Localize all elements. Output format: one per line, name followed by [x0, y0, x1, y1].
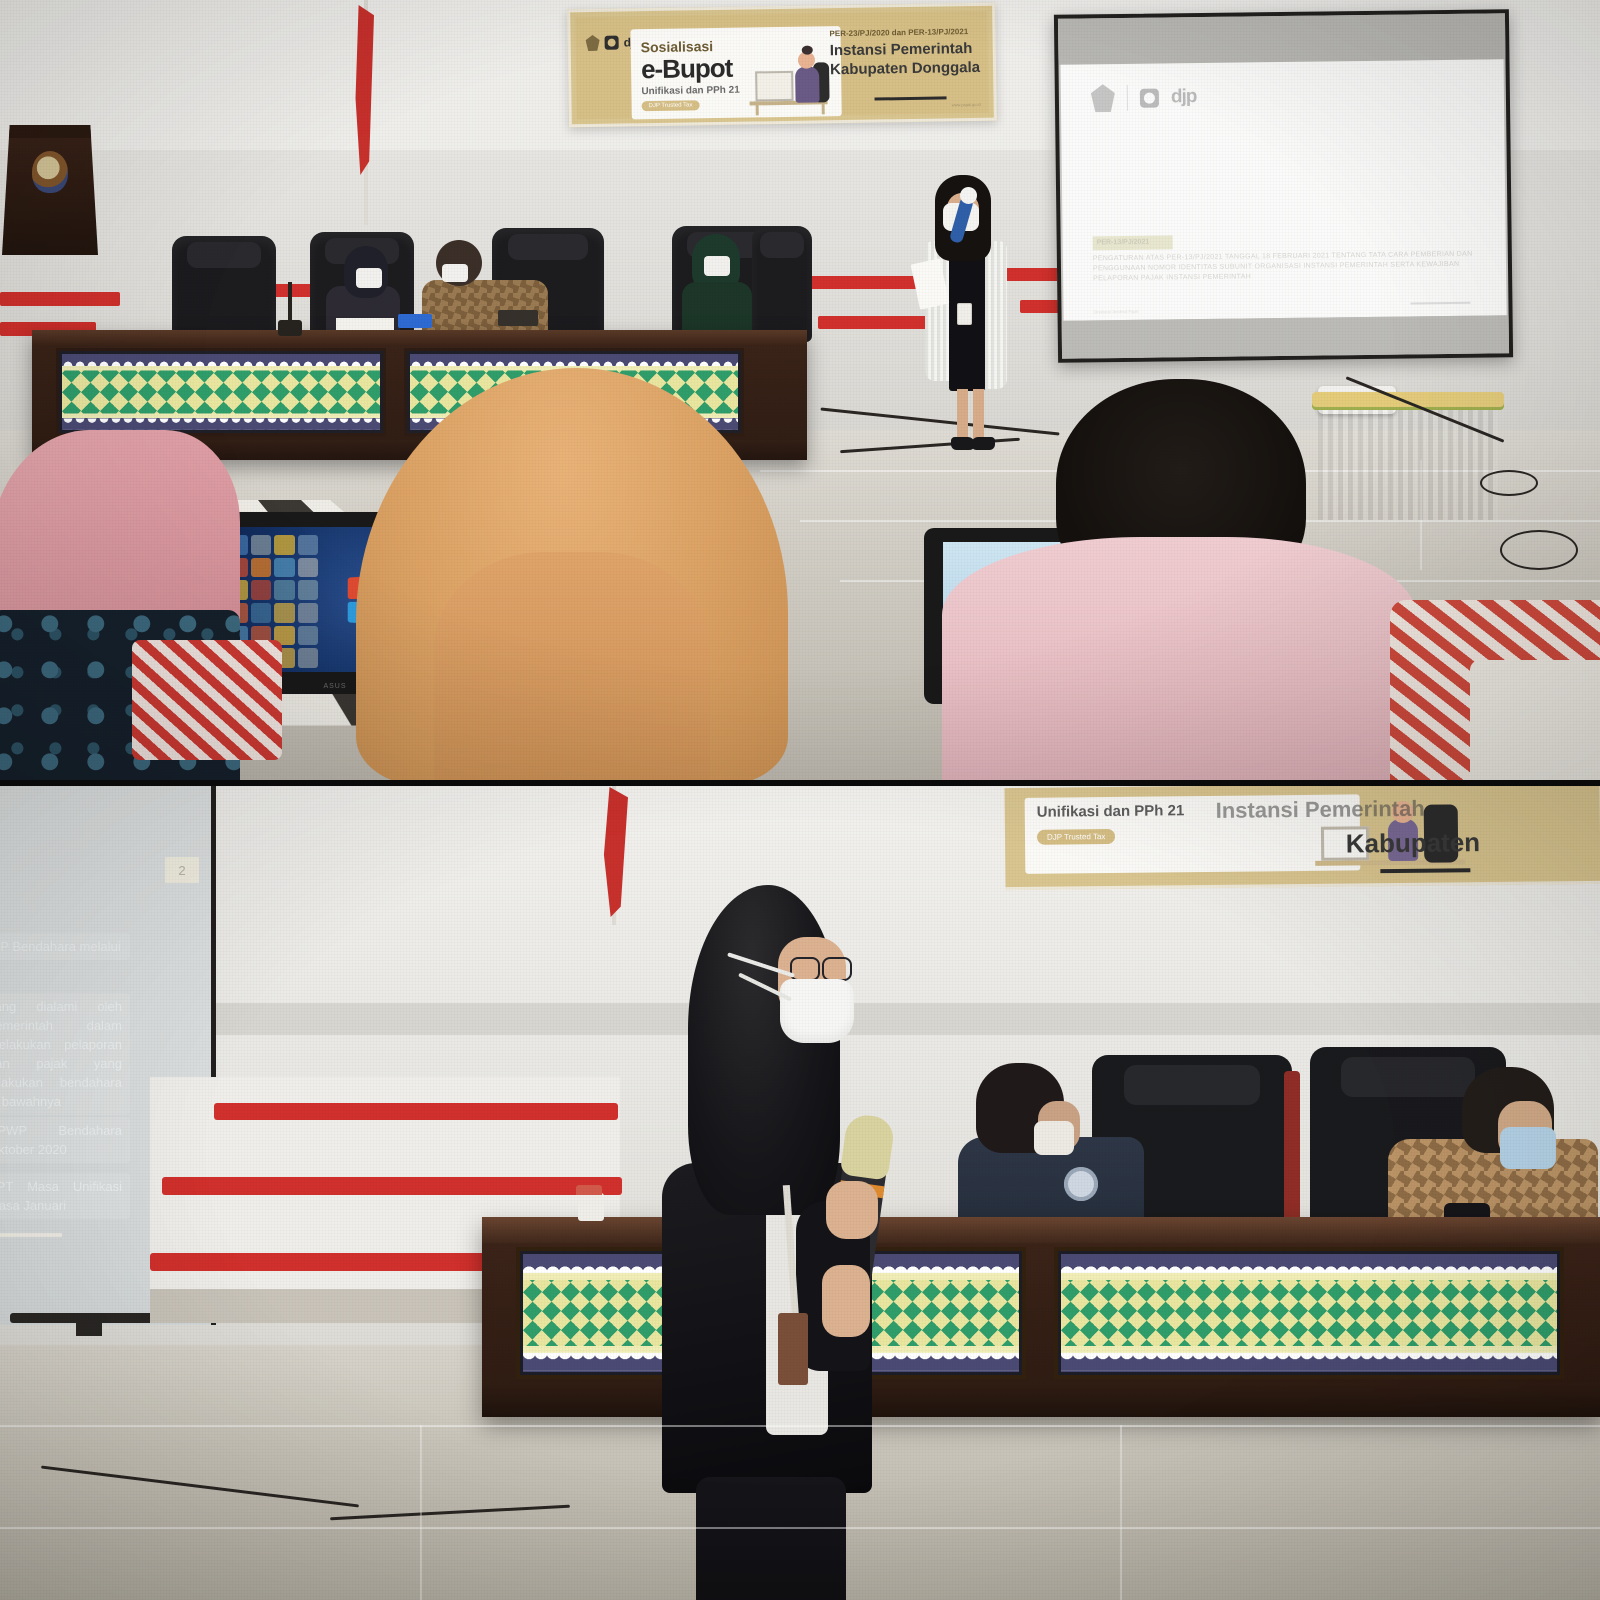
microphone-head [840, 1113, 896, 1181]
projection-screen: djp PER-13/PJ/2021 PENGATURAN ATAS PER-1… [1054, 9, 1513, 363]
kemenkeu-emblem-icon [1091, 84, 1115, 112]
book [498, 310, 538, 326]
slide-number: 2 [165, 857, 199, 883]
slide-highlight-text: PER-13/PJ/2021 [1093, 235, 1173, 250]
photo-collage: djp Sosialisasi e-Bupot Unifikasi dan PP… [0, 0, 1600, 1600]
desktop-icon[interactable] [274, 603, 294, 623]
slide-rule [0, 1233, 62, 1237]
desktop-icon[interactable] [274, 558, 294, 578]
photo-divider [0, 780, 1600, 786]
banner-inner: djp Sosialisasi e-Bupot Unifikasi dan PP… [575, 11, 989, 119]
hand-sanitizer [578, 1193, 604, 1221]
speaker-trousers [696, 1477, 846, 1600]
photo-top: djp Sosialisasi e-Bupot Unifikasi dan PP… [0, 0, 1600, 785]
slide-footer: Direktorat Jenderal Pajak [1093, 309, 1138, 315]
desktop-icon[interactable] [298, 648, 318, 668]
slide-logos: djp [1091, 83, 1197, 112]
uniform-shoulder-patch [1064, 1167, 1098, 1201]
slide-body-text: PENGATURAN ATAS PER-13/PJ/2021 TANGGAL 1… [1093, 250, 1483, 285]
event-banner: djp Sosialisasi e-Bupot Unifikasi dan PP… [567, 3, 997, 128]
batik-crown-band [410, 355, 738, 366]
desktop-icon[interactable] [251, 603, 271, 623]
stage-step [150, 1139, 620, 1211]
face-mask-icon [1500, 1127, 1556, 1169]
speaker-hand [826, 1181, 878, 1239]
batik-pattern [62, 354, 380, 430]
floor-tile-line [0, 1527, 1600, 1529]
banner-regulation: PER-23/PJ/2020 dan PER-13/PJ/2021 [829, 27, 979, 38]
slide-rule [1410, 302, 1470, 305]
bottle-cap [576, 1185, 602, 1195]
illustration-monitor [755, 71, 793, 102]
floor-tile-line [420, 1425, 422, 1600]
desktop-icon[interactable] [251, 580, 271, 600]
desktop-icon[interactable] [298, 580, 318, 600]
banner-subject-line1: Instansi Pemerintah [1216, 796, 1425, 824]
chair [172, 236, 276, 340]
podium-top [0, 125, 102, 138]
attendee-seated [412, 238, 548, 342]
stage-rail [0, 292, 120, 306]
djp-box-icon [1140, 88, 1159, 107]
screen-top-bar [1058, 13, 1506, 64]
slide-text-block: WP Bendahara melalui [0, 933, 130, 960]
projected-slide: djp PER-13/PJ/2021 PENGATURAN ATAS PER-1… [1061, 59, 1507, 320]
folder [398, 314, 432, 328]
foreground-paper [1470, 660, 1600, 785]
regency-emblem-icon [32, 151, 68, 193]
stage-step-nose [162, 1177, 622, 1195]
photo-bottom: Unifikasi dan PPh 21 DJP Trusted Tax Ins… [0, 785, 1600, 1600]
desktop-icon[interactable] [298, 626, 318, 646]
slide-text-block: SPT Masa Unifikasi Masa Januari [0, 1173, 130, 1219]
attendee-seated [680, 232, 752, 338]
speaker-standing [640, 885, 940, 1600]
face-mask-icon [442, 264, 468, 282]
banner-pill: DJP Trusted Tax [1037, 829, 1116, 845]
logo-divider [1127, 85, 1128, 111]
face-mask-icon [1034, 1121, 1074, 1155]
banner-subject-line1: Instansi Pemerintah [830, 40, 980, 59]
banner-subject-line2: Kabupaten [1346, 827, 1481, 859]
desktop-icon[interactable] [298, 603, 318, 623]
red-patterned-bag [132, 640, 282, 760]
table-microphone [288, 282, 292, 324]
face-mask-icon [704, 256, 730, 276]
desktop-icon[interactable] [251, 558, 271, 578]
batik-panel [1054, 1247, 1564, 1379]
speaker-hand [822, 1265, 870, 1337]
desktop-icon[interactable] [298, 535, 318, 555]
id-badge [957, 303, 972, 325]
slide-text-block: NPWP Bendahara Oktober 2020 [0, 1117, 130, 1163]
floor-cable [1500, 530, 1578, 570]
batik-crown-band [62, 355, 380, 366]
desktop-icon[interactable] [274, 535, 294, 555]
batik-crown-band [1061, 1255, 1557, 1273]
illustration-desk-leg [822, 102, 825, 114]
banner-white-card: Sosialisasi e-Bupot Unifikasi dan PPh 21… [630, 26, 841, 119]
illustration-person-body [795, 66, 820, 102]
batik-crown-band [62, 418, 380, 429]
kemenkeu-emblem-icon [586, 35, 600, 51]
floor-tile-line [0, 1425, 1600, 1427]
laptop-brand: ASUS [323, 683, 346, 690]
speaker-hijab [688, 885, 840, 1215]
id-badge [778, 1313, 808, 1385]
banner-subject-line2: Kabupaten Donggala [830, 59, 980, 78]
stage-step-nose [214, 1103, 618, 1120]
desktop-icon[interactable] [251, 535, 271, 555]
banner-illustration [742, 30, 835, 115]
floor-tile-line [1120, 1425, 1122, 1600]
banner-pill: DJP Trusted Tax [642, 100, 700, 111]
paper-stack [336, 318, 394, 330]
banner-url: www.pajak.go.id [952, 102, 981, 107]
banner-line2: e-Bupot [641, 53, 733, 85]
desktop-icon[interactable] [274, 580, 294, 600]
floor-cable [1480, 470, 1538, 496]
djp-wordmark: djp [1171, 86, 1197, 108]
batik-crown-band [1061, 1353, 1557, 1371]
banner-line3: Unifikasi dan PPh 21 [1037, 802, 1185, 821]
banner-line3: Unifikasi dan PPh 21 [641, 85, 740, 98]
table-top-edge [32, 330, 807, 345]
mic-base [278, 320, 302, 336]
desktop-icon[interactable] [298, 558, 318, 578]
slide-highlight-tag: PER-13/PJ/2021 [1093, 235, 1173, 250]
event-banner: Unifikasi dan PPh 21 DJP Trusted Tax Ins… [1004, 785, 1600, 890]
face-mask-icon [780, 979, 854, 1043]
batik-panel [56, 348, 386, 436]
attendee-shirt [942, 537, 1416, 785]
chair [752, 226, 812, 342]
podium [2, 125, 98, 255]
screen-bottom-bar [1062, 315, 1509, 358]
banner-right-text: PER-23/PJ/2020 dan PER-13/PJ/2021 Instan… [829, 27, 980, 78]
foreground-attendee-pink [948, 385, 1410, 785]
slide-text-block: yang dialami oleh pemerintah dalam melak… [0, 993, 130, 1115]
banner-rule [875, 96, 947, 100]
face-mask-icon [356, 268, 382, 288]
illustration-desk-leg [756, 103, 759, 115]
djp-box-icon [605, 36, 619, 50]
screen-stand-foot [76, 1320, 102, 1336]
glasses-icon [790, 957, 852, 979]
chair-accent [1284, 1071, 1300, 1228]
batik-pattern [1061, 1254, 1557, 1372]
